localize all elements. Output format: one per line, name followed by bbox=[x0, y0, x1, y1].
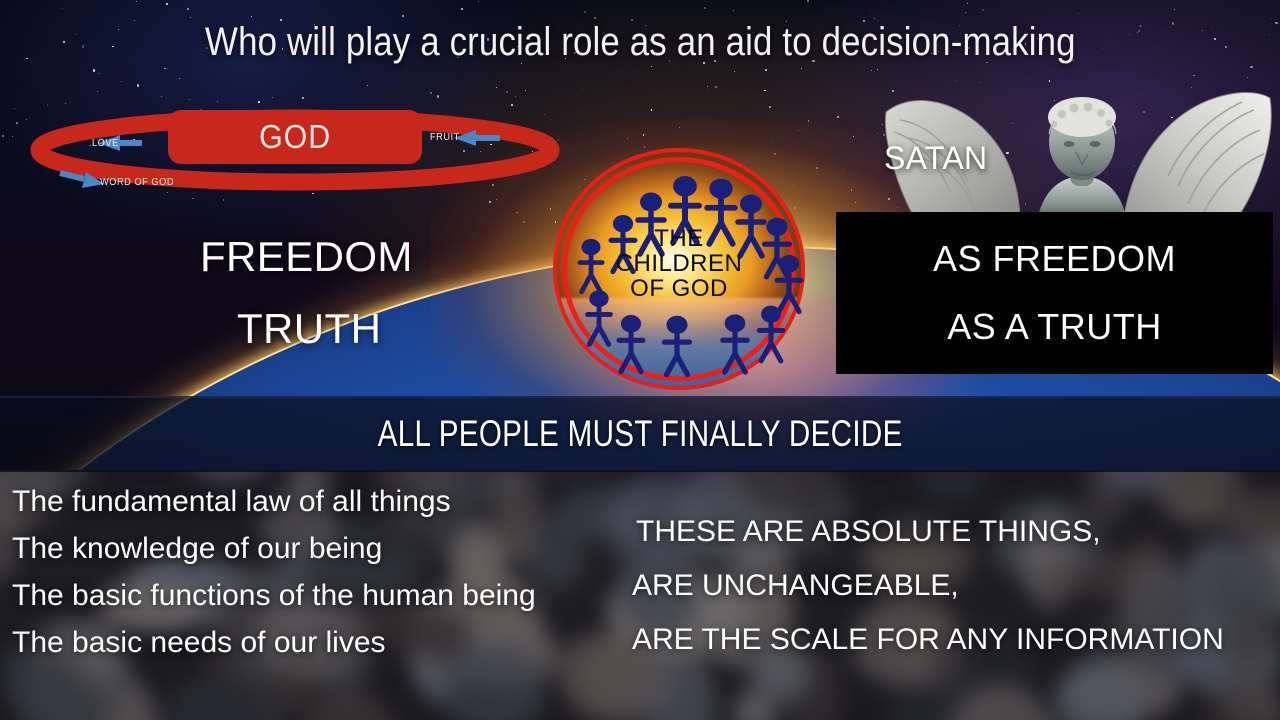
bottom-right-list: THESE ARE ABSOLUTE THINGS,ARE UNCHANGEAB… bbox=[636, 515, 1276, 677]
bottom-left-list: The fundamental law of all thingsThe kno… bbox=[12, 485, 632, 673]
god-center-box: GOD bbox=[168, 110, 422, 164]
black-box-line-1: AS FREEDOM bbox=[933, 238, 1176, 280]
list-item: The knowledge of our being bbox=[12, 532, 632, 566]
children-of-god-emblem: THE CHILDREN OF GOD bbox=[553, 148, 805, 390]
presentation-slide: Who will play a crucial role as an aid t… bbox=[0, 0, 1280, 720]
list-item: THESE ARE ABSOLUTE THINGS, bbox=[636, 515, 1276, 549]
ring-label-word-of-god: WORD OF GOD bbox=[100, 177, 174, 188]
list-item: The basic functions of the human being bbox=[12, 579, 632, 613]
as-freedom-truth-box: AS FREEDOM AS A TRUTH bbox=[836, 212, 1273, 374]
satan-label: SATAN bbox=[884, 140, 987, 177]
god-label: GOD bbox=[259, 118, 331, 156]
stick-figure-icon bbox=[619, 315, 643, 372]
stick-figure-icon bbox=[723, 314, 747, 372]
stick-figure-icon bbox=[759, 306, 782, 361]
stick-figure-icon bbox=[588, 290, 611, 344]
emblem-line-3: OF GOD bbox=[616, 276, 743, 301]
list-item: The fundamental law of all things bbox=[12, 485, 632, 519]
truth-word: TRUTH bbox=[237, 305, 381, 353]
stick-figure-icon bbox=[665, 316, 690, 375]
list-item: The basic needs of our lives bbox=[12, 626, 632, 660]
god-cycle-diagram: GOD LOVE WORD OF GOD FRUIT bbox=[30, 105, 570, 205]
stick-figure-icon bbox=[777, 255, 801, 312]
list-item: ARE THE SCALE FOR ANY INFORMATION bbox=[632, 623, 1276, 657]
ring-label-love: LOVE bbox=[92, 138, 119, 149]
black-box-line-2: AS A TRUTH bbox=[947, 306, 1161, 348]
slide-title-text: Who will play a crucial role as an aid t… bbox=[205, 20, 1076, 65]
slide-title: Who will play a crucial role as an aid t… bbox=[0, 20, 1280, 65]
emblem-text-block: THE CHILDREN OF GOD bbox=[616, 226, 743, 302]
ring-label-fruit: FRUIT bbox=[430, 132, 460, 143]
list-item: ARE UNCHANGEABLE, bbox=[632, 569, 1276, 603]
freedom-word: FREEDOM bbox=[200, 233, 413, 281]
banner-text: ALL PEOPLE MUST FINALLY DECIDE bbox=[377, 413, 902, 455]
stick-figure-icon bbox=[580, 239, 602, 292]
emblem-line-2: CHILDREN bbox=[616, 251, 743, 276]
emblem-line-1: THE bbox=[616, 226, 743, 251]
decide-banner: ALL PEOPLE MUST FINALLY DECIDE bbox=[0, 396, 1280, 472]
